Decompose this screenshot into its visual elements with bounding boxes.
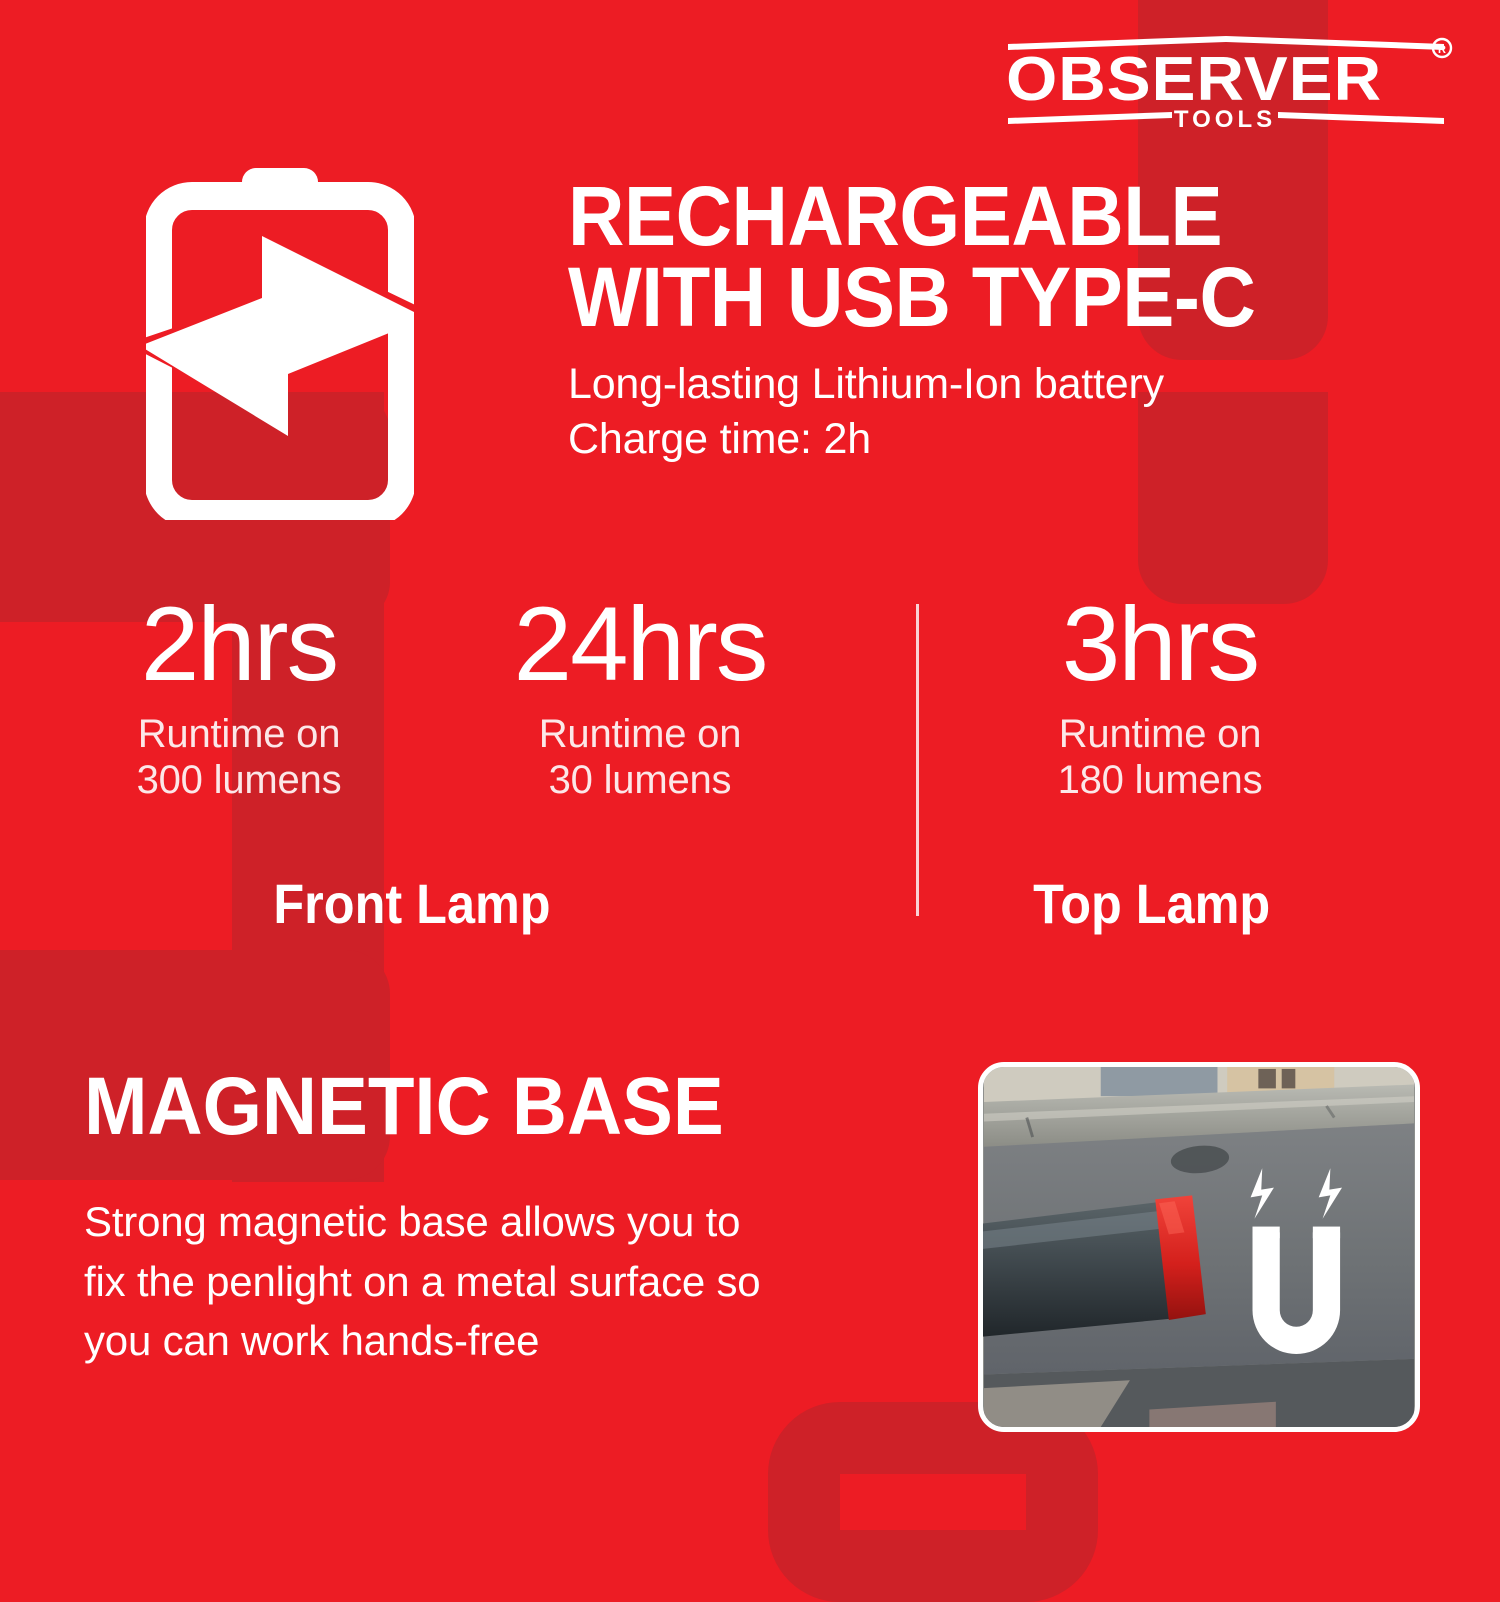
- headline-line-2: WITH USB TYPE-C: [568, 257, 1405, 338]
- magnetic-base-heading: MAGNETIC BASE: [84, 1066, 724, 1148]
- stat-description: Runtime on 30 lumens: [462, 711, 818, 804]
- runtime-stats-row: 2hrs Runtime on 300 lumens 24hrs Runtime…: [0, 592, 1500, 942]
- battery-charging-icon: [146, 168, 414, 520]
- magnetic-body-line-1: Strong magnetic base allows you to: [84, 1192, 964, 1252]
- stat-top-lamp: 3hrs Runtime on 180 lumens: [982, 592, 1338, 804]
- stat-desc-line-1: Runtime on: [462, 711, 818, 757]
- svg-text:OBSERVER: OBSERVER: [1006, 44, 1382, 114]
- stats-vertical-divider: [916, 604, 919, 916]
- stat-front-lamp-low: 24hrs Runtime on 30 lumens: [462, 592, 818, 804]
- subline-line-1: Long-lasting Lithium-Ion battery: [568, 357, 1468, 412]
- stat-description: Runtime on 180 lumens: [982, 711, 1338, 804]
- hero-subline: Long-lasting Lithium-Ion battery Charge …: [568, 357, 1468, 467]
- observer-tools-logo: OBSERVER R TOOLS: [1004, 26, 1454, 138]
- headline-line-1: RECHARGEABLE: [568, 176, 1405, 257]
- stat-desc-line-2: 30 lumens: [462, 757, 818, 803]
- stat-desc-line-1: Runtime on: [982, 711, 1338, 757]
- stat-description: Runtime on 300 lumens: [86, 711, 392, 804]
- hero-text-block: RECHARGEABLE WITH USB TYPE-C Long-lastin…: [568, 176, 1468, 467]
- subline-line-2: Charge time: 2h: [568, 412, 1468, 467]
- stat-desc-line-1: Runtime on: [86, 711, 392, 757]
- stat-value: 3hrs: [982, 592, 1338, 697]
- label-top-lamp: Top Lamp: [1033, 876, 1270, 932]
- magnetic-base-body: Strong magnetic base allows you to fix t…: [84, 1192, 964, 1371]
- magnetic-body-line-2: fix the penlight on a metal surface so: [84, 1252, 964, 1312]
- stat-value: 24hrs: [462, 592, 818, 697]
- stat-desc-line-2: 180 lumens: [982, 757, 1338, 803]
- label-front-lamp: Front Lamp: [273, 876, 550, 932]
- svg-text:R: R: [1438, 44, 1446, 56]
- background-watermark-o-shape: [768, 1402, 1098, 1602]
- magnet-product-photo: [978, 1062, 1420, 1432]
- magnetic-body-line-3: you can work hands-free: [84, 1311, 964, 1371]
- stat-value: 2hrs: [86, 592, 392, 697]
- stat-desc-line-2: 300 lumens: [86, 757, 392, 803]
- stat-front-lamp-high: 2hrs Runtime on 300 lumens: [86, 592, 392, 804]
- svg-text:TOOLS: TOOLS: [1174, 106, 1276, 133]
